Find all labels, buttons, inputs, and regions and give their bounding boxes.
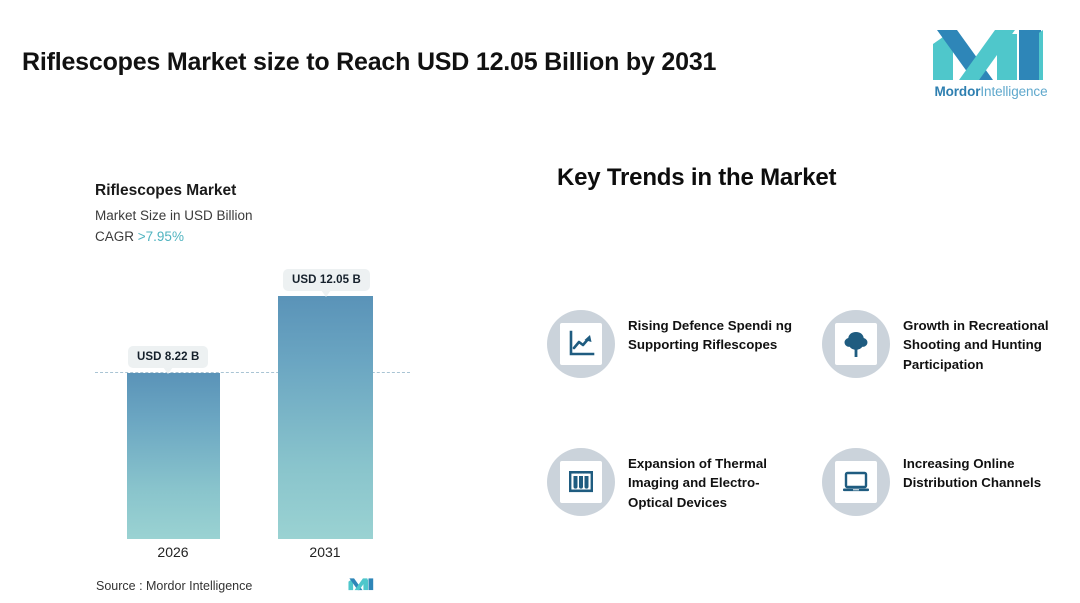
trend-icon-square	[560, 461, 602, 503]
mordor-m-logo-icon	[348, 575, 376, 593]
trend-item-4: Increasing Online Distribution Channels	[822, 448, 1080, 516]
key-trends-title: Key Trends in the Market	[557, 164, 836, 192]
trend-item-2: Growth in Recreational Shooting and Hunt…	[822, 310, 1080, 378]
tree-icon	[841, 329, 871, 359]
cagr-value: >7.95%	[138, 229, 184, 244]
trend-icon-square	[835, 323, 877, 365]
bar-value-label-2026: USD 8.22 B	[128, 346, 208, 368]
chart-source: Source : Mordor Intelligence	[96, 579, 252, 593]
trend-label: Expansion of Thermal Imaging and Electro…	[628, 448, 803, 512]
trend-label: Rising Defence Spendi ng Supporting Rifl…	[628, 310, 803, 355]
test-tubes-rack-icon	[566, 467, 596, 497]
brand-logo: MordorIntelligence	[928, 26, 1054, 99]
trend-icon-circle	[822, 310, 890, 378]
trend-item-1: Rising Defence Spendi ng Supporting Rifl…	[547, 310, 817, 378]
brand-name-bold: Mordor	[934, 84, 980, 99]
brand-name-light: Intelligence	[980, 84, 1047, 99]
trend-icon-square	[835, 461, 877, 503]
laptop-icon	[841, 467, 871, 497]
chart-growth-arrow-icon	[566, 329, 596, 359]
bar-2026	[127, 373, 220, 539]
trend-item-3: Expansion of Thermal Imaging and Electro…	[547, 448, 817, 516]
bar-value-label-2031: USD 12.05 B	[283, 269, 370, 291]
x-axis-label-2026: 2026	[113, 544, 233, 560]
chart-subtitle: Market Size in USD Billion	[95, 208, 253, 223]
brand-wordmark: MordorIntelligence	[928, 84, 1054, 99]
trend-label: Growth in Recreational Shooting and Hunt…	[903, 310, 1080, 374]
chart-title: Riflescopes Market	[95, 182, 236, 200]
chart-cagr: CAGR >7.95%	[95, 229, 184, 244]
page-title: Riflescopes Market size to Reach USD 12.…	[22, 48, 716, 77]
trend-label: Increasing Online Distribution Channels	[903, 448, 1080, 493]
trend-icon-circle	[822, 448, 890, 516]
trend-icon-circle	[547, 448, 615, 516]
mordor-m-logo-icon	[931, 26, 1051, 82]
bar-2031	[278, 296, 373, 539]
x-axis-label-2031: 2031	[265, 544, 385, 560]
infographic-page: Riflescopes Market size to Reach USD 12.…	[0, 0, 1080, 603]
trend-icon-square	[560, 323, 602, 365]
cagr-label: CAGR	[95, 229, 134, 244]
trend-icon-circle	[547, 310, 615, 378]
